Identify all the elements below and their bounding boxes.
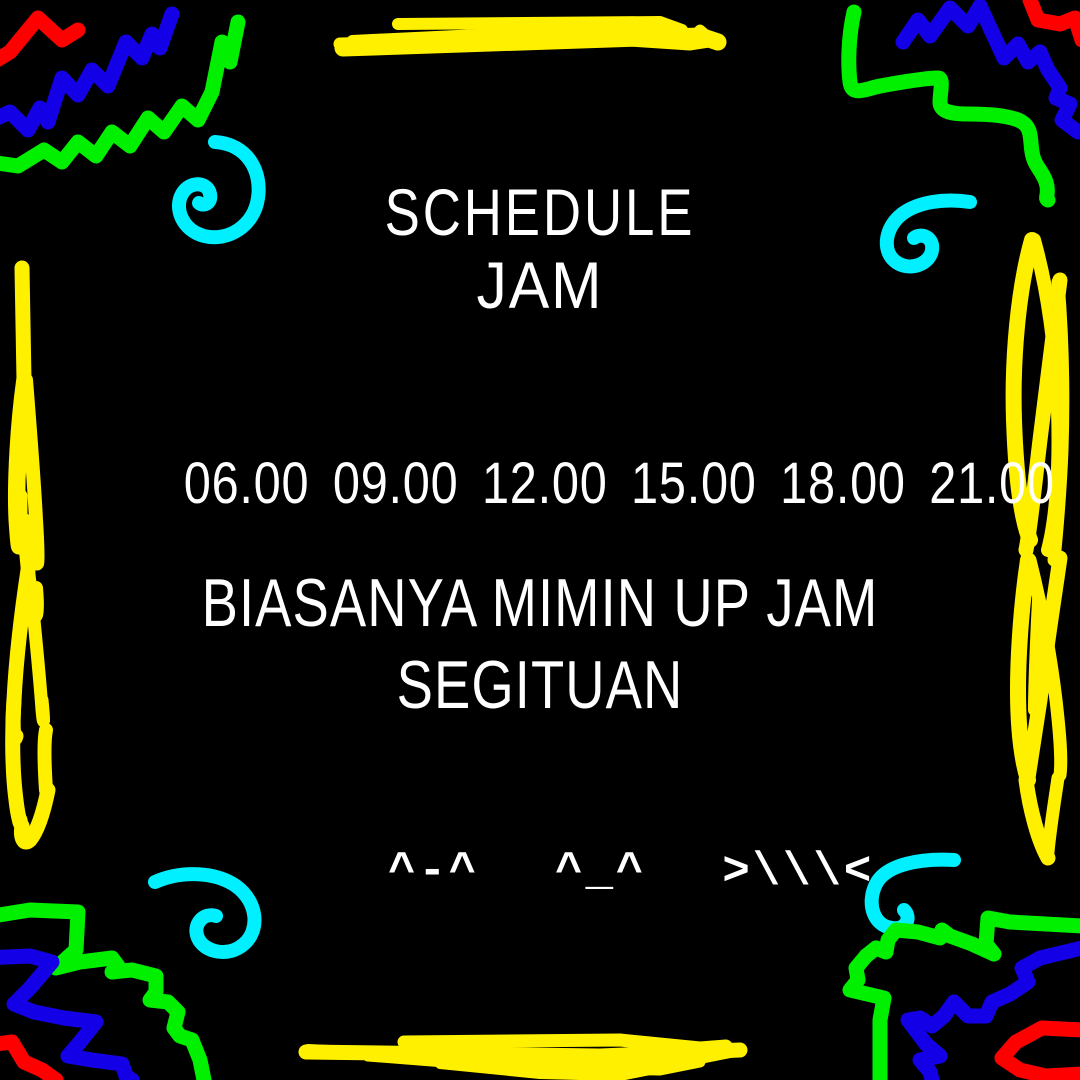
schedule-times-row: 06.0009.0012.0015.0018.0021.00 (86, 388, 993, 580)
time-slot-1: 06.00 (184, 452, 310, 516)
poster-text-layer: SCHEDULE JAM 06.0009.0012.0015.0018.0021… (0, 0, 1080, 1080)
title-line-jam: JAM (43, 248, 1037, 322)
emoticon-row: ^-^^_^>\\\< (0, 788, 1080, 956)
title-line-schedule: SCHEDULE (108, 176, 972, 248)
time-slot-4: 15.00 (631, 452, 757, 516)
message-line-1: BIASANYA MIMIN UP JAM (108, 562, 972, 644)
message-line-2: SEGITUAN (108, 644, 972, 726)
emoticon-2: ^_^ (555, 844, 646, 900)
poster-message: BIASANYA MIMIN UP JAM SEGITUAN (0, 562, 1080, 726)
time-slot-2: 09.00 (333, 452, 459, 516)
time-slot-5: 18.00 (780, 452, 906, 516)
poster-title: SCHEDULE JAM (0, 176, 1080, 322)
time-slot-6: 21.00 (929, 452, 1055, 516)
time-slot-3: 12.00 (482, 452, 608, 516)
emoticon-3: >\\\< (722, 844, 874, 900)
poster-canvas: SCHEDULE JAM 06.0009.0012.0015.0018.0021… (0, 0, 1080, 1080)
emoticon-1: ^-^ (388, 844, 479, 900)
